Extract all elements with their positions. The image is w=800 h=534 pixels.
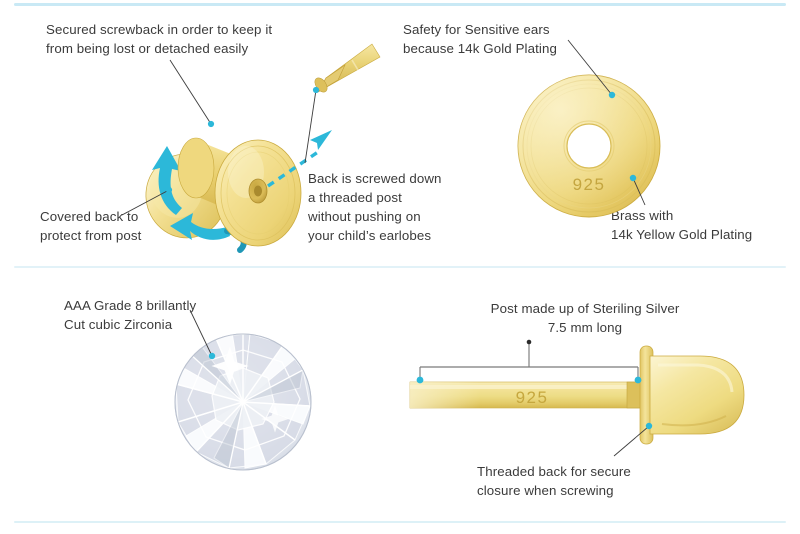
panel-post: Post made up of Steriling Silver 7.5 mm … [400, 266, 800, 522]
stone-artwork [0, 266, 400, 522]
post-stamp-925: 925 [516, 388, 549, 407]
panel-stone: AAA Grade 8 brillantly Cut cubic Zirconi… [0, 266, 400, 522]
post-artwork: 925 [400, 266, 800, 522]
infographic-canvas: Secured screwback in order to keep it fr… [0, 0, 800, 534]
screwback-artwork [0, 0, 400, 266]
round-disc-icon: 925 [518, 75, 660, 217]
dimension-bracket-icon [417, 340, 642, 384]
threaded-post-icon [312, 44, 380, 94]
brilliant-cut-gem-icon [175, 332, 311, 470]
screwback-leader-top [170, 60, 214, 127]
disc-artwork: 925 [400, 0, 800, 266]
earring-post-side-view-icon: 925 [410, 346, 744, 444]
panel-disc: Safety for Sensitive ears because 14k Go… [400, 0, 800, 266]
disc-stamp-925: 925 [573, 175, 606, 194]
panel-screwback: Secured screwback in order to keep it fr… [0, 0, 400, 266]
dome-cap-icon [650, 356, 744, 434]
screwback-leader-right [305, 87, 319, 163]
